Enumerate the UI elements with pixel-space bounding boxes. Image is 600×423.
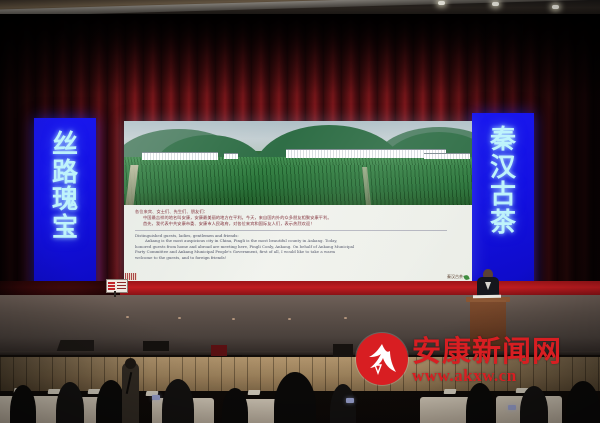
audience-phone-screen — [152, 395, 160, 400]
tea-leaf-icon — [463, 274, 469, 280]
watermark: 安康新闻网 www.akxw.cn — [356, 330, 594, 388]
slide-divider — [135, 230, 447, 231]
floor-reflection — [178, 317, 181, 319]
ceiling-light — [438, 1, 445, 5]
placard-graphic — [108, 281, 115, 290]
banner-right-char: 秦 — [490, 127, 516, 155]
slide-brand-text: 秦汉古茶 — [447, 274, 463, 280]
banner-right-char: 古 — [490, 182, 516, 210]
photo-building — [142, 152, 218, 160]
placard-stand — [114, 291, 116, 297]
audience-phone-screen — [508, 405, 516, 410]
placard-text-block — [117, 282, 126, 289]
photo-building — [286, 149, 446, 158]
table-document — [248, 390, 261, 395]
ceiling-light — [492, 2, 499, 6]
photo-building — [224, 153, 238, 159]
banner-right: 秦 汉 古 茶 — [472, 113, 534, 296]
slide-brand-logo: 秦汉古茶 — [447, 274, 469, 280]
slide-text-area: 各位来宾、女士们、先生们、朋友们： 中国最吉祥的地名叫安康，安康最美丽的地方在平… — [124, 205, 472, 281]
akxw-bird-logo-icon — [356, 333, 408, 385]
watermark-url: www.akxw.cn — [412, 367, 562, 384]
banner-right-char: 茶 — [490, 210, 516, 238]
bird-glyph — [365, 342, 399, 376]
stage-placard — [106, 279, 128, 293]
slide-cn-line: 首先，我代表中共安康市委、安康市人民政府，对各位来宾和国际友人们，表示热烈欢迎！ — [135, 221, 461, 227]
speech-papers — [473, 295, 501, 298]
led-presentation-screen: 各位来宾、女士们、先生们、朋友们： 中国最吉祥的地名叫安康，安康最美丽的地方在平… — [124, 121, 472, 281]
ceiling-light — [552, 5, 559, 9]
banner-left-char: 路 — [52, 160, 78, 188]
floor-reflection — [344, 317, 347, 319]
banner-left-char: 丝 — [52, 132, 78, 160]
photo-tea-terraces — [124, 165, 472, 205]
banner-left-char: 瑰 — [52, 187, 78, 215]
watermark-site-name: 安康新闻网 — [412, 336, 562, 366]
banner-left: 丝 路 瑰 宝 — [34, 118, 96, 294]
slide-en-line: welcome to the guests, and to foreign fr… — [135, 255, 461, 261]
floor-reflection — [232, 318, 235, 320]
floor-reflection — [126, 316, 129, 318]
photo-building — [424, 153, 470, 159]
floor-reflection — [288, 318, 291, 320]
slide-photo-tea-plantation — [124, 121, 472, 205]
banner-right-char: 汉 — [490, 155, 516, 183]
conference-photo: 丝 路 瑰 宝 秦 汉 古 茶 — [0, 0, 600, 423]
audience-phone-screen — [346, 398, 354, 403]
wall-red-panel — [211, 345, 227, 356]
table-document — [444, 389, 457, 394]
banner-left-char: 宝 — [52, 215, 78, 243]
standing-attendee-head — [125, 358, 136, 369]
